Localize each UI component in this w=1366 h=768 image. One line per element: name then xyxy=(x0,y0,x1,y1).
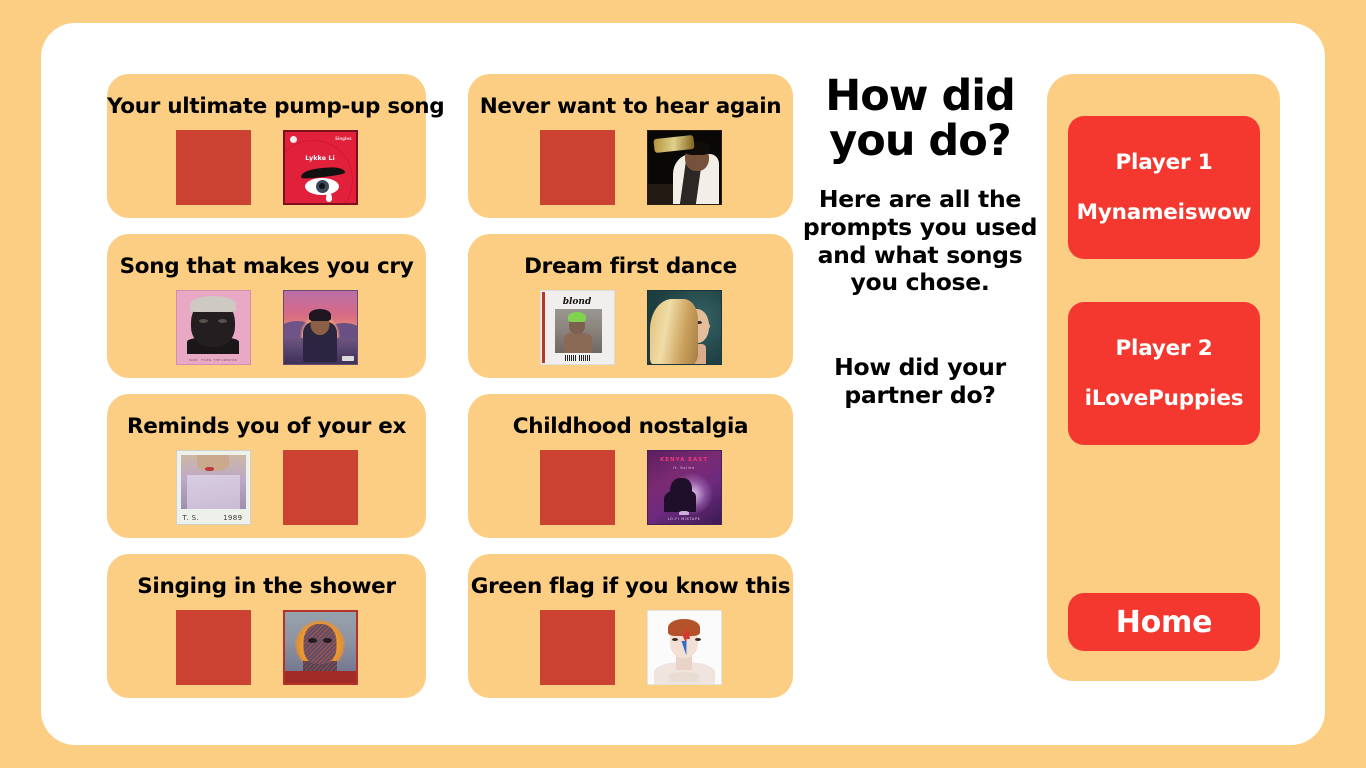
prompt-card-title: Dream first dance xyxy=(468,234,793,278)
prompt-card[interactable]: Childhood nostalgia KENYA EAST ft. Baile… xyxy=(468,394,793,538)
parental-advisory-icon xyxy=(342,356,354,361)
prompt-card-title: Song that makes you cry xyxy=(107,234,426,278)
prompt-card[interactable]: Reminds you of your ex T. S. 1989 xyxy=(107,394,426,538)
prompt-card-picks: KENYA EAST ft. Bailee LO-FI MIXTAPE xyxy=(468,450,793,525)
prompt-card-title: Reminds you of your ex xyxy=(107,394,426,438)
album-art-lykke-li[interactable]: Singles Lykke Li xyxy=(283,130,358,205)
album-art-initials: T. S. xyxy=(183,514,200,522)
decor-dot xyxy=(290,136,297,143)
collar-shape xyxy=(669,672,699,682)
partner-question: How did your partner do? xyxy=(800,354,1040,409)
player-1-slot-label: Player 1 xyxy=(1068,150,1260,175)
shoulder-shape xyxy=(285,671,356,683)
album-art-title: KENYA EAST xyxy=(648,457,721,463)
album-art-tag: Singles xyxy=(335,136,351,141)
blonde-hair-shape xyxy=(650,299,698,365)
prompt-card-title: Childhood nostalgia xyxy=(468,394,793,438)
prompt-card-picks: IGOR TYLER, THE CREATOR xyxy=(107,290,426,365)
lips-shape xyxy=(205,467,214,471)
prompt-card[interactable]: Dream first dance blond xyxy=(468,234,793,378)
album-art-dirty-computer[interactable] xyxy=(283,610,358,685)
album-art-legends-never-die[interactable] xyxy=(283,290,358,365)
album-art-empty[interactable] xyxy=(540,450,615,525)
page-title-line-2: you do? xyxy=(829,116,1010,166)
album-art-aladdin-sane[interactable] xyxy=(647,610,722,685)
prompt-card-picks xyxy=(468,610,793,685)
eyes-shape xyxy=(199,319,227,323)
page-title-line-1: How did xyxy=(825,71,1015,121)
torso-shape xyxy=(564,333,592,353)
album-art-thriller[interactable] xyxy=(647,130,722,205)
album-art-empty[interactable] xyxy=(540,610,615,685)
head-silhouette-shape xyxy=(670,478,692,504)
eye-pupil-shape xyxy=(319,183,325,189)
prompt-card-picks: blond xyxy=(468,290,793,365)
polaroid-photo-shape xyxy=(181,455,246,509)
hair-shape xyxy=(190,296,236,312)
player-rail: Player 1 Mynameiswow Player 2 iLovePuppi… xyxy=(1047,74,1280,681)
prompt-card[interactable]: Your ultimate pump-up song Singles Lykke… xyxy=(107,74,426,218)
prompt-card-picks xyxy=(107,610,426,685)
album-art-credits: IGOR TYLER, THE CREATOR xyxy=(177,358,250,362)
player-1-name: Mynameiswow xyxy=(1068,200,1260,225)
prompt-card-grid: Your ultimate pump-up song Singles Lykke… xyxy=(107,74,793,698)
album-art-empty[interactable] xyxy=(540,130,615,205)
prompt-card-title: Green flag if you know this xyxy=(468,554,793,598)
prompt-card-picks: T. S. 1989 xyxy=(107,450,426,525)
album-art-1989[interactable]: T. S. 1989 xyxy=(176,450,251,525)
album-art-year: 1989 xyxy=(223,514,242,522)
app-root: Your ultimate pump-up song Singles Lykke… xyxy=(0,0,1366,768)
head-shape xyxy=(304,624,337,664)
album-art-blonde[interactable]: blond xyxy=(540,290,615,365)
album-art-subtitle: ft. Bailee xyxy=(648,466,721,470)
prompt-card[interactable]: Song that makes you cry IGOR TYLER, THE … xyxy=(107,234,426,378)
album-art-title: blond xyxy=(541,297,614,307)
home-button[interactable]: Home xyxy=(1068,593,1260,651)
hair-shape xyxy=(668,619,700,636)
prompt-card[interactable]: Singing in the shower xyxy=(107,554,426,698)
summary-copy: How did you do? Here are all the prompts… xyxy=(800,74,1040,410)
player-2-name: iLovePuppies xyxy=(1068,386,1260,411)
prompt-card-title: Singing in the shower xyxy=(107,554,426,598)
green-hair-shape xyxy=(568,312,586,322)
album-art-empty[interactable] xyxy=(176,610,251,685)
prompt-card-picks xyxy=(468,130,793,205)
album-art-adele[interactable] xyxy=(647,290,722,365)
album-art-kenya-east[interactable]: KENYA EAST ft. Bailee LO-FI MIXTAPE xyxy=(647,450,722,525)
eye-left-shape xyxy=(672,638,678,641)
player-1-button[interactable]: Player 1 Mynameiswow xyxy=(1068,116,1260,259)
prompt-card[interactable]: Never want to hear again xyxy=(468,74,793,218)
album-art-igor[interactable]: IGOR TYLER, THE CREATOR xyxy=(176,290,251,365)
nose-shape xyxy=(702,322,710,329)
player-2-button[interactable]: Player 2 iLovePuppies xyxy=(1068,302,1260,445)
barcode-icons xyxy=(541,355,614,361)
prompt-card-title: Your ultimate pump-up song xyxy=(107,74,426,118)
prompt-card-picks: Singles Lykke Li xyxy=(107,130,426,205)
teardrop-shape xyxy=(326,192,332,202)
label-logo-icon xyxy=(679,511,689,515)
prompt-card[interactable]: Green flag if you know this xyxy=(468,554,793,698)
album-art-footer: LO-FI MIXTAPE xyxy=(648,517,721,521)
album-art-empty[interactable] xyxy=(283,450,358,525)
summary-description: Here are all the prompts you used and wh… xyxy=(800,186,1040,297)
shirt-shape xyxy=(187,475,240,509)
page-title: How did you do? xyxy=(800,74,1040,164)
prompt-card-title: Never want to hear again xyxy=(468,74,793,118)
hair-shape xyxy=(309,309,331,321)
album-art-empty[interactable] xyxy=(176,130,251,205)
eyes-shape xyxy=(308,638,332,643)
album-art-artist: Lykke Li xyxy=(285,154,356,162)
player-2-slot-label: Player 2 xyxy=(1068,336,1260,361)
eye-right-shape xyxy=(695,638,701,641)
